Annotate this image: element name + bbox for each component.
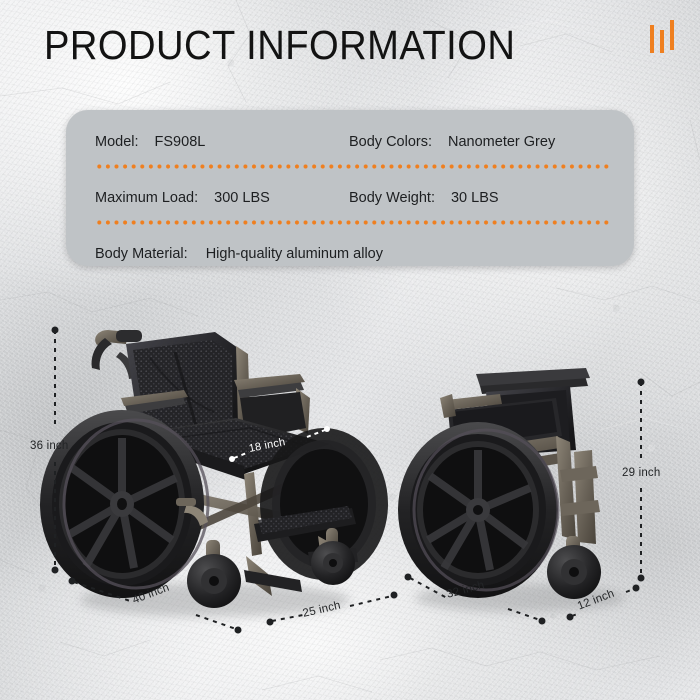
dimension-line-29-inch xyxy=(638,379,645,582)
folded-rear-wheel xyxy=(398,422,558,598)
dimension-label-height: 36 inch xyxy=(30,440,68,452)
dimension-label-folded-height: 29 inch xyxy=(622,467,660,479)
wheelchair-folded-side-view xyxy=(398,368,625,612)
wheelchair-front-three-quarter-view xyxy=(40,330,388,617)
folded-front-caster xyxy=(547,536,601,599)
product-information-poster: PRODUCT INFORMATION Model: FS908L Body C… xyxy=(0,0,700,700)
